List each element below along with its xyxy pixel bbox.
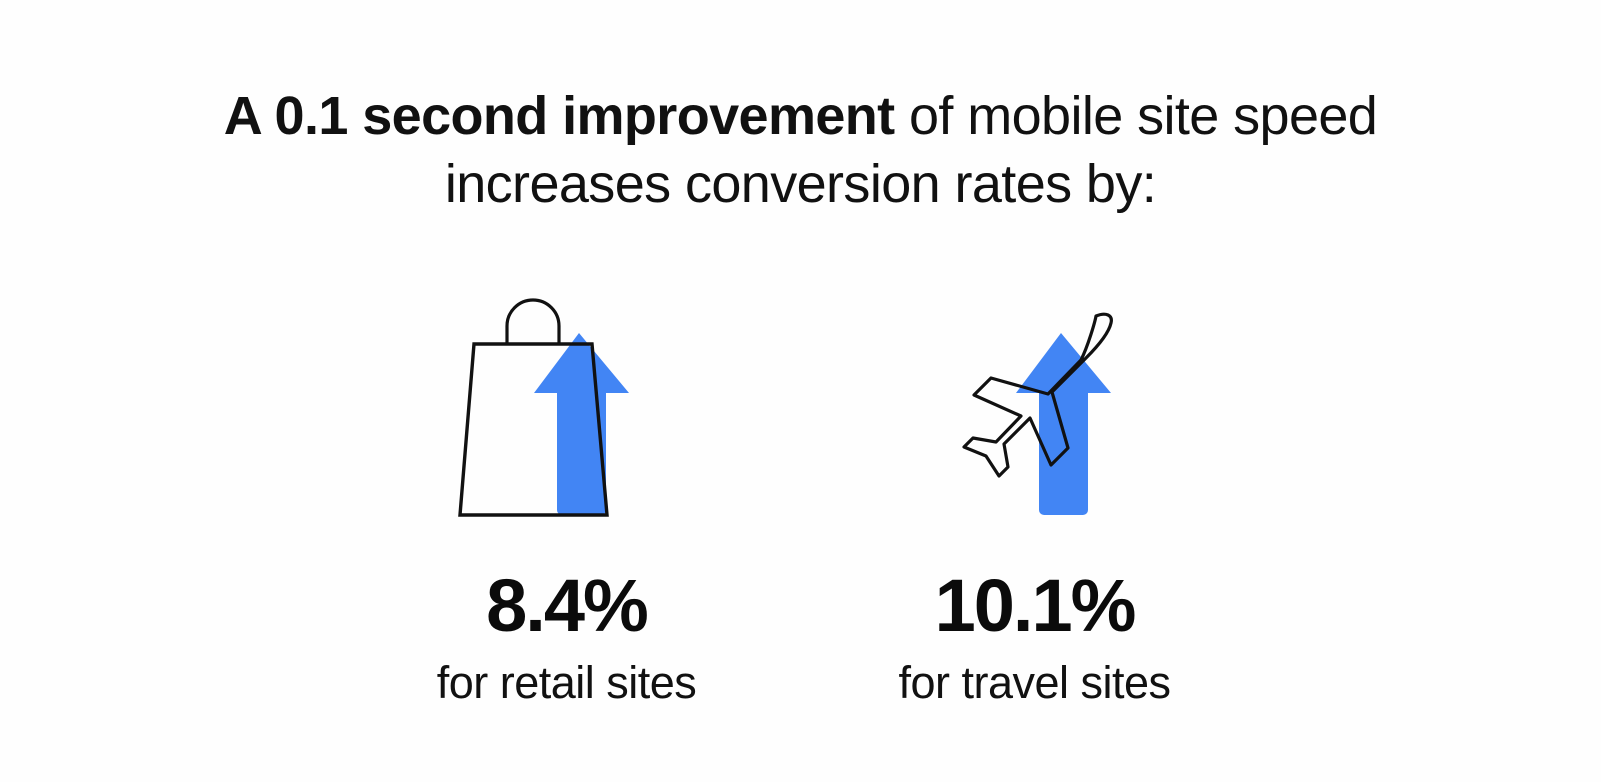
bag-handle-shape [507, 300, 559, 344]
headline-emphasis: A 0.1 second improvement [224, 86, 895, 146]
up-arrow-shape [534, 333, 629, 515]
up-arrow-shape [1016, 333, 1111, 515]
shopping-bag-with-up-arrow-icon [452, 310, 682, 525]
stat-block-retail: 8.4% for retail sites [417, 310, 717, 709]
stat-label-travel: for travel sites [898, 657, 1170, 709]
stat-label-retail: for retail sites [437, 657, 697, 709]
airplane-shape [964, 314, 1111, 476]
infographic-root: A 0.1 second improvement of mobile site … [0, 0, 1601, 782]
page-title: A 0.1 second improvement of mobile site … [171, 82, 1431, 218]
stats-row: 8.4% for retail sites 10.1% for travel s… [417, 310, 1185, 709]
stat-value-retail: 8.4% [486, 567, 647, 645]
airplane-with-up-arrow-icon [920, 310, 1150, 525]
stat-block-travel: 10.1% for travel sites [885, 310, 1185, 709]
stat-value-travel: 10.1% [935, 567, 1135, 645]
